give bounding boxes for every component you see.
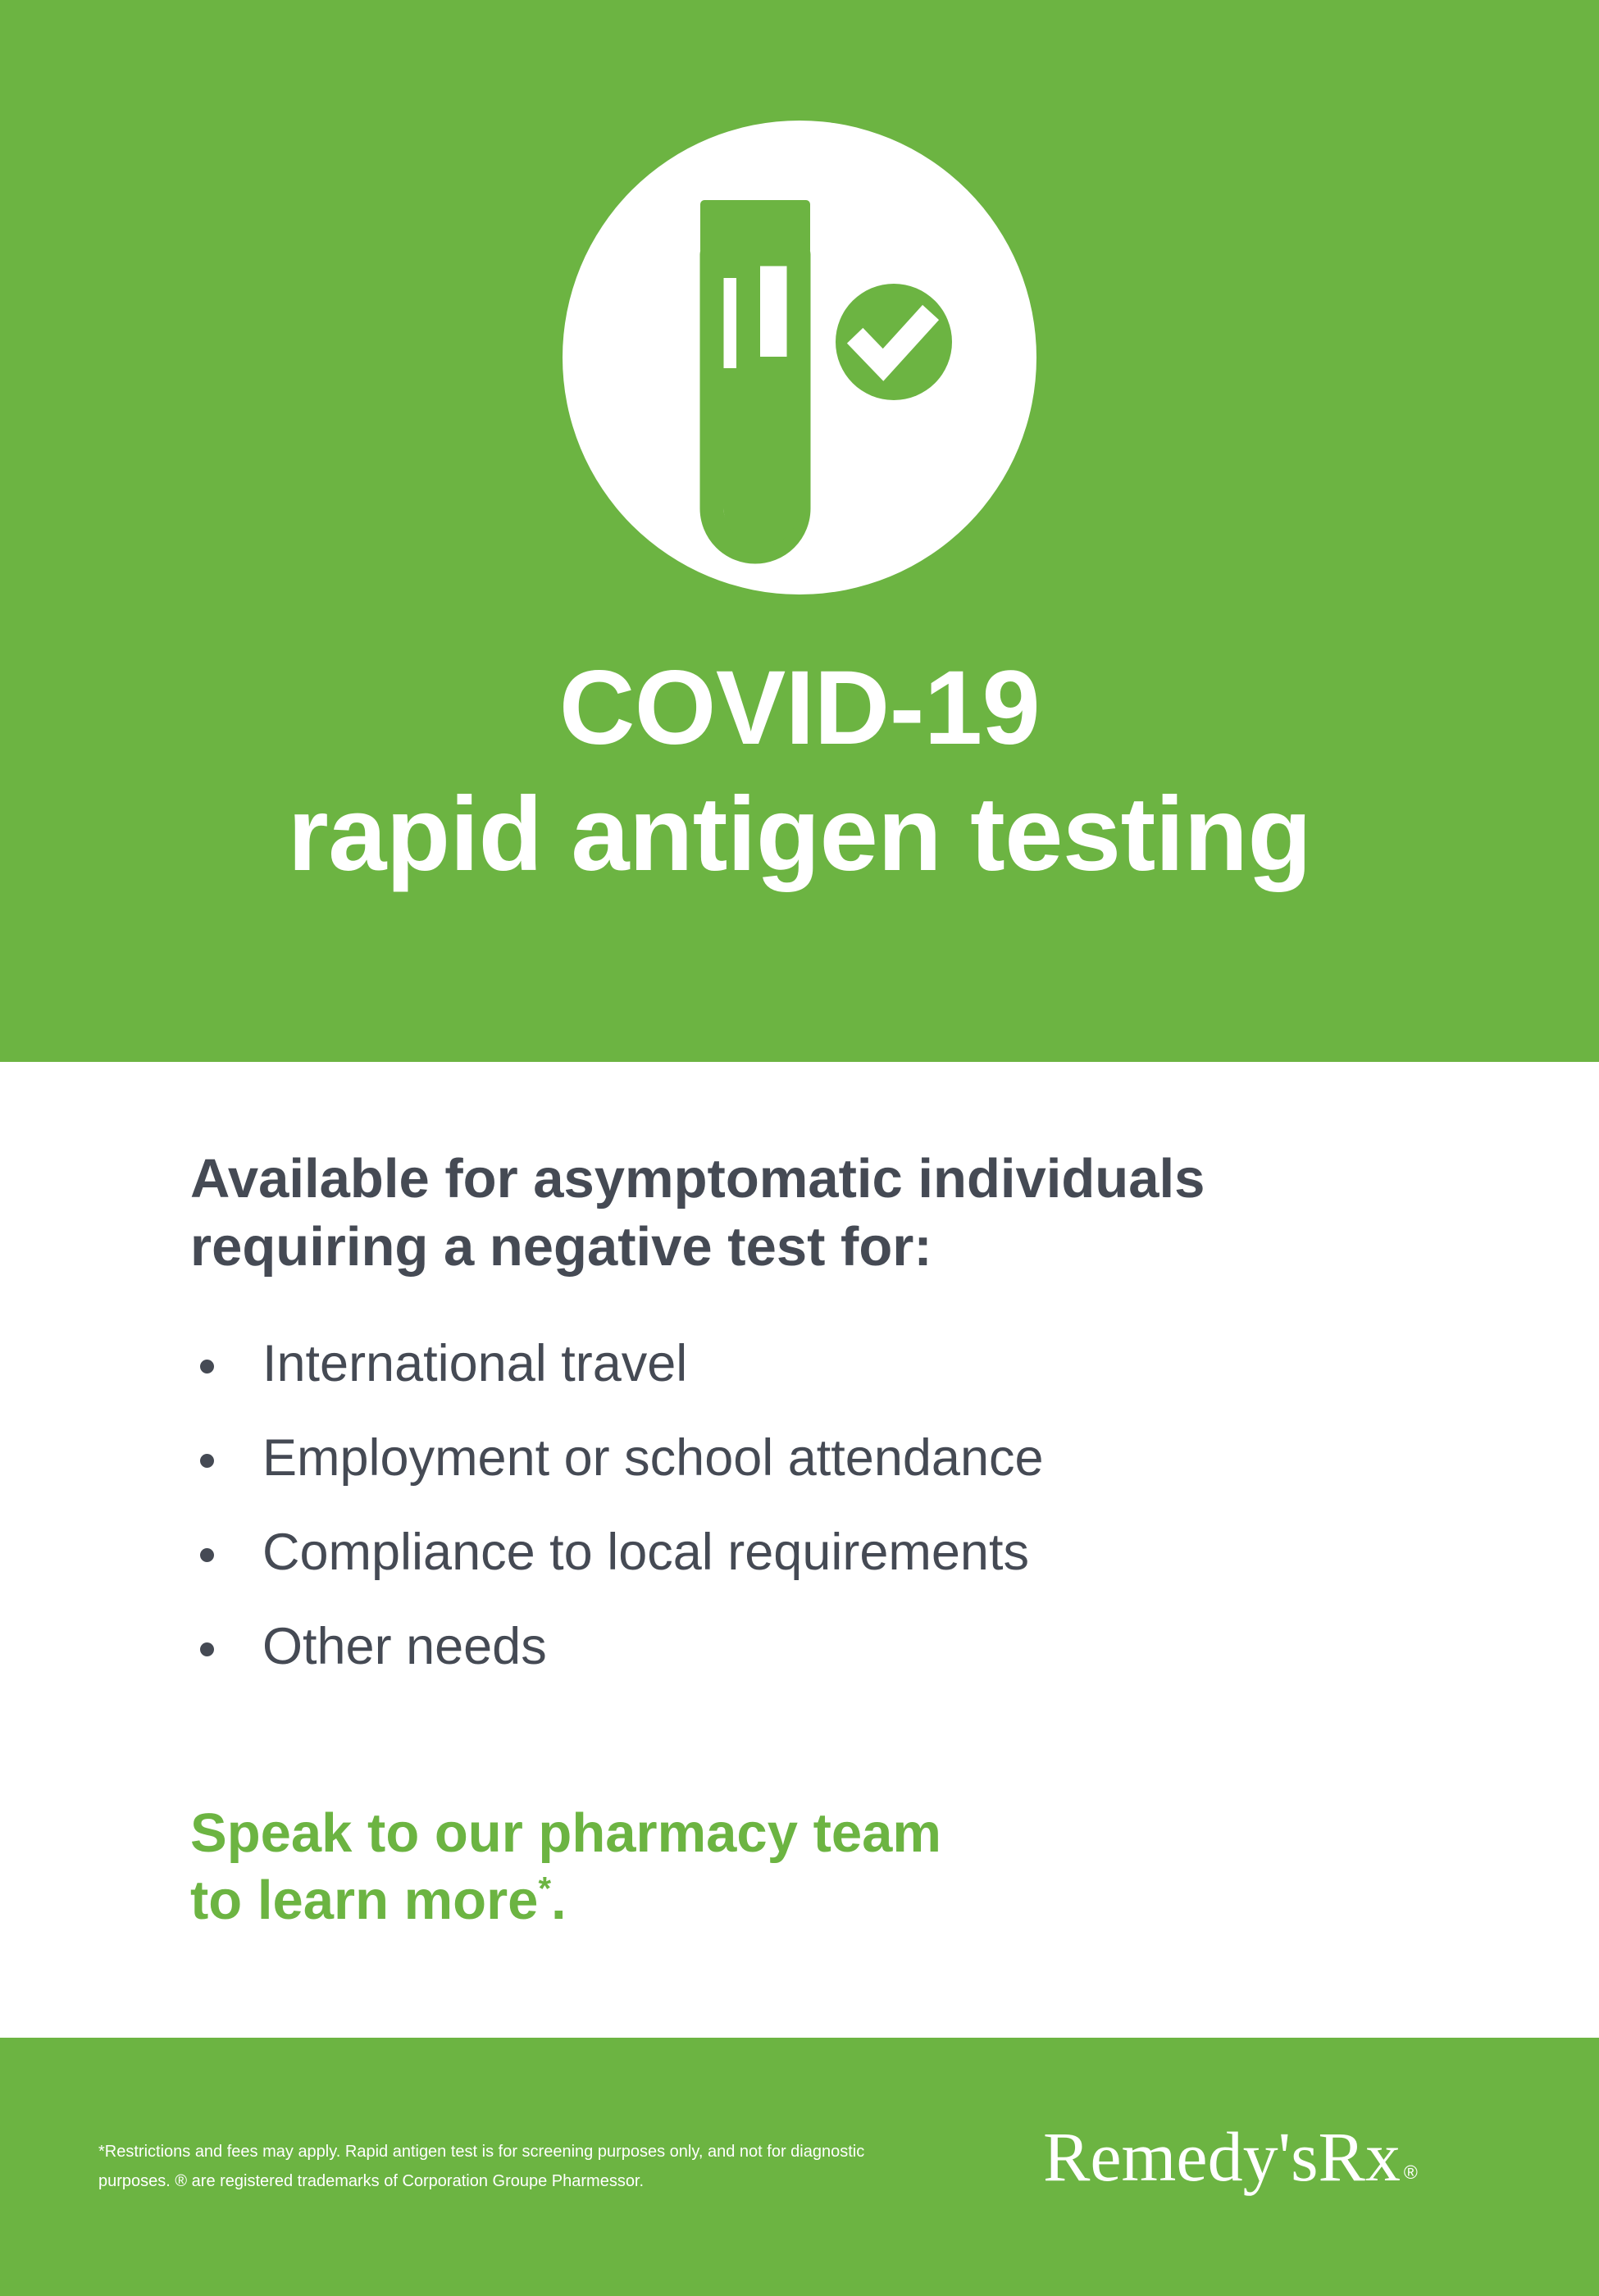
list-item-label: Other needs — [262, 1618, 547, 1675]
title-line-subject: rapid antigen testing — [0, 782, 1599, 887]
bullet-dot-icon — [200, 1642, 214, 1656]
call-to-action-line-1: Speak to our pharmacy team — [190, 1800, 1420, 1867]
footnote-asterisk-marker: * — [538, 1870, 551, 1906]
list-item: Other needs — [190, 1621, 1502, 1673]
list-item-label: Compliance to local requirements — [262, 1524, 1029, 1581]
call-to-action-period: . — [551, 1870, 567, 1931]
legal-disclaimer-line-2: purposes. ® are registered trademarks of… — [98, 2167, 927, 2197]
remedysrx-logo: Remedy'sRx® — [1043, 2121, 1519, 2192]
call-to-action-line-2-text: to learn more — [190, 1870, 538, 1931]
body-white-section: Available for asymptomatic individuals r… — [0, 1062, 1599, 2038]
title-line-covid: COVID-19 — [0, 656, 1599, 761]
call-to-action-line-2: to learn more*. — [190, 1867, 1420, 1934]
list-item: Compliance to local requirements — [190, 1527, 1502, 1578]
poster-root: COVID-19 rapid antigen testing Available… — [0, 0, 1599, 2296]
call-to-action: Speak to our pharmacy team to learn more… — [190, 1800, 1420, 1934]
eligibility-heading-line-1: Available for asymptomatic individuals — [190, 1145, 1486, 1213]
list-item: Employment or school attendance — [190, 1433, 1502, 1484]
footer-green-band: *Restrictions and fees may apply. Rapid … — [0, 2038, 1599, 2296]
bullet-dot-icon — [200, 1454, 214, 1468]
legal-disclaimer: *Restrictions and fees may apply. Rapid … — [98, 2138, 927, 2196]
bullet-dot-icon — [200, 1548, 214, 1562]
list-item: International travel — [190, 1338, 1502, 1390]
list-item-label: Employment or school attendance — [262, 1429, 1044, 1487]
header-green-band: COVID-19 rapid antigen testing — [0, 0, 1599, 1062]
poster-title: COVID-19 rapid antigen testing — [0, 656, 1599, 887]
bullet-dot-icon — [200, 1360, 214, 1373]
test-tube-check-icon — [563, 121, 1036, 594]
eligibility-heading: Available for asymptomatic individuals r… — [190, 1145, 1486, 1281]
list-item-label: International travel — [262, 1335, 687, 1392]
remedysrx-logo-wordmark: Remedy'sRx — [1043, 2117, 1401, 2196]
eligibility-heading-line-2: requiring a negative test for: — [190, 1213, 1486, 1281]
eligibility-reasons-list: International travel Employment or schoo… — [190, 1338, 1502, 1673]
legal-disclaimer-line-1: *Restrictions and fees may apply. Rapid … — [98, 2138, 927, 2167]
registered-trademark-icon: ® — [1404, 2162, 1418, 2183]
